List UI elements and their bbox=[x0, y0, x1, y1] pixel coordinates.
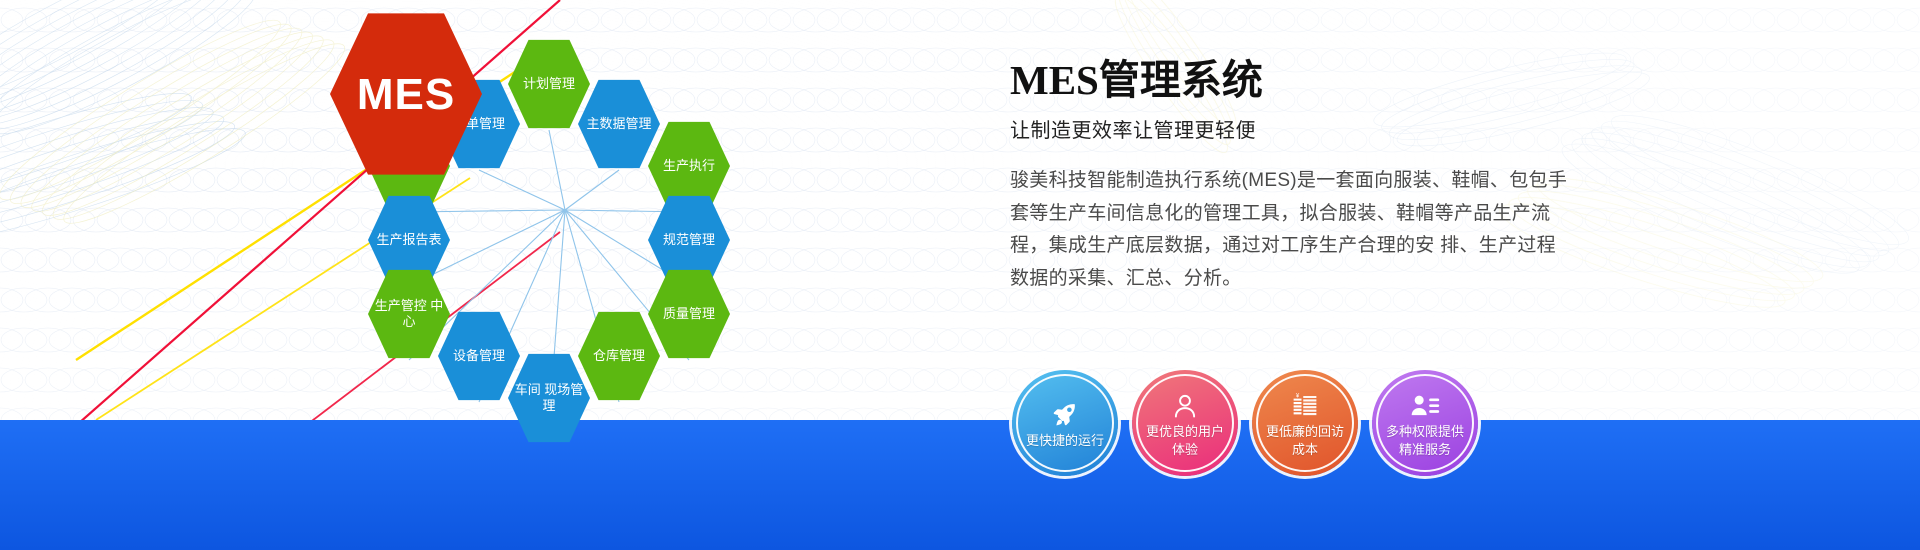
user-list-icon bbox=[1410, 391, 1440, 421]
hex-label: 生产管控 中心 bbox=[368, 298, 450, 331]
coins-icon: ¥ bbox=[1291, 391, 1319, 421]
person-icon bbox=[1171, 391, 1199, 421]
badge-label: 更快捷的运行 bbox=[1020, 432, 1110, 450]
hex-label: 质量管理 bbox=[657, 306, 721, 322]
banner-stage: 计划管理订单管理主数据管理统计分析生产执行生产报告表规范管理生产管控 中心质量管… bbox=[0, 0, 1920, 550]
badge-inner-ring: ¥更低廉的回访成本 bbox=[1256, 374, 1354, 472]
badge-label: 更低廉的回访成本 bbox=[1258, 423, 1352, 458]
hex-label: 主数据管理 bbox=[580, 116, 657, 132]
page-subtitle: 让制造更效率让管理更轻便 bbox=[1010, 114, 1610, 143]
badge-inner-ring: 更优良的用户体验 bbox=[1136, 374, 1234, 472]
hex-label: 生产报告表 bbox=[370, 232, 447, 248]
badge-label: 更优良的用户体验 bbox=[1138, 423, 1232, 458]
badge-better-user-experience[interactable]: 更优良的用户体验 bbox=[1132, 370, 1238, 476]
text-panel: MES管理系统 让制造更效率让管理更轻便 骏美科技智能制造执行系统(MES)是一… bbox=[1010, 58, 1610, 296]
svg-text:¥: ¥ bbox=[1296, 393, 1300, 400]
mes-hex-diagram: 计划管理订单管理主数据管理统计分析生产执行生产报告表规范管理生产管控 中心质量管… bbox=[330, 10, 800, 440]
badge-label: 多种权限提供精准服务 bbox=[1378, 423, 1472, 458]
page-description: 骏美科技智能制造执行系统(MES)是一套面向服装、鞋帽、包包手套等生产车间信息化… bbox=[1010, 165, 1570, 296]
badge-faster-operation[interactable]: 更快捷的运行 bbox=[1012, 370, 1118, 476]
hex-label: 车间 现场管理 bbox=[508, 382, 590, 415]
page-title: MES管理系统 bbox=[1010, 58, 1610, 103]
badge-multi-permission-service[interactable]: 多种权限提供精准服务 bbox=[1372, 370, 1478, 476]
hex-label: 规范管理 bbox=[657, 232, 721, 248]
hex-center-label: MES bbox=[351, 67, 461, 122]
bottom-blue-band bbox=[0, 420, 1920, 550]
hex-label: 生产执行 bbox=[657, 158, 721, 174]
hex-label: 设备管理 bbox=[447, 348, 511, 364]
bottom-band-gradient bbox=[0, 420, 1920, 550]
badge-lower-revisit-cost[interactable]: ¥更低廉的回访成本 bbox=[1252, 370, 1358, 476]
rocket-icon bbox=[1051, 400, 1079, 430]
badge-inner-ring: 多种权限提供精准服务 bbox=[1376, 374, 1474, 472]
feature-badge-row: 更快捷的运行更优良的用户体验¥更低廉的回访成本多种权限提供精准服务 bbox=[1012, 370, 1478, 476]
badge-inner-ring: 更快捷的运行 bbox=[1016, 374, 1114, 472]
hex-label: 计划管理 bbox=[517, 76, 581, 92]
hex-label: 仓库管理 bbox=[587, 348, 651, 364]
